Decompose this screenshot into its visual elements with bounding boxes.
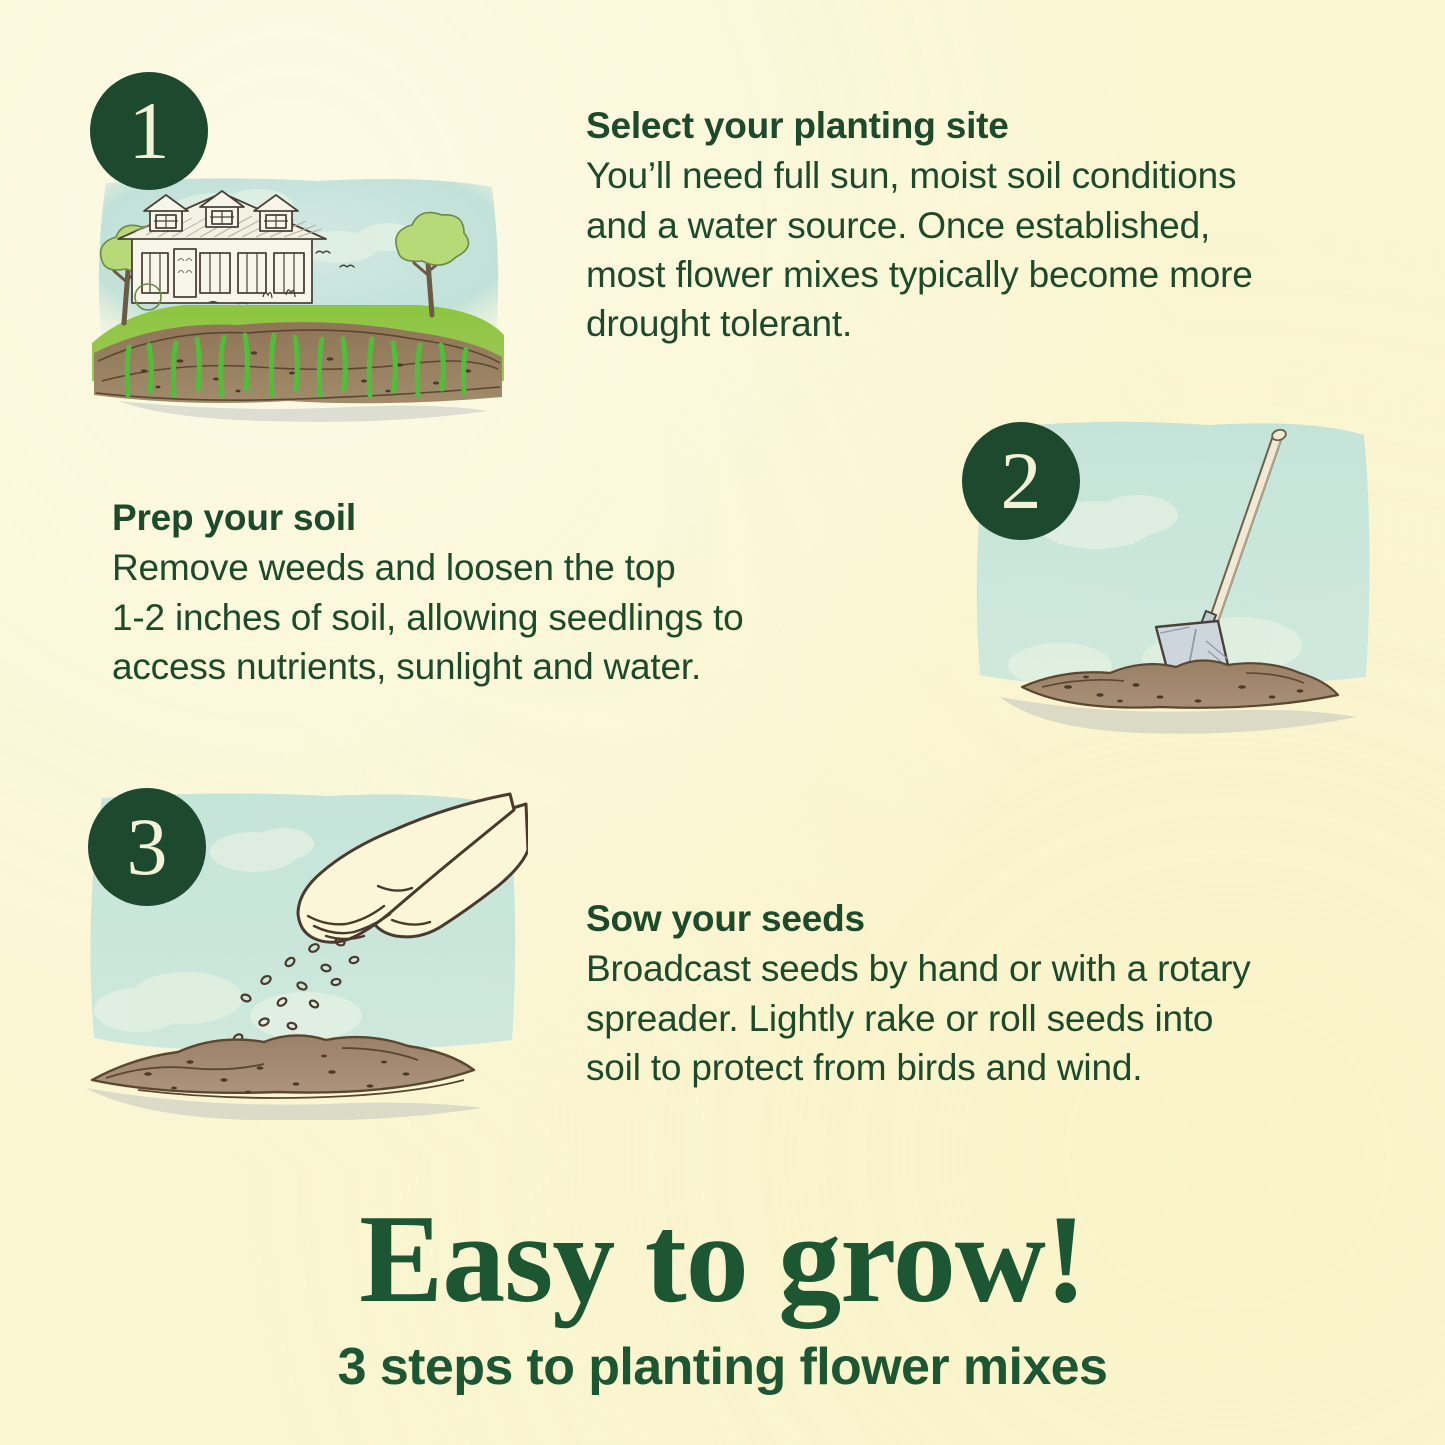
- step-text-3: Sow your seeds Broadcast seeds by hand o…: [586, 895, 1406, 1092]
- step-body-line: soil to protect from birds and wind.: [586, 1043, 1406, 1092]
- step-body-line: drought tolerant.: [586, 299, 1406, 348]
- footer: Easy to grow! 3 steps to planting flower…: [0, 1197, 1445, 1397]
- infographic-page: 1 2 3 Select your planting site You’ll n…: [0, 0, 1445, 1445]
- step-title-1: Select your planting site: [586, 102, 1406, 149]
- step-badge-1: 1: [90, 72, 208, 190]
- house-and-soil-illustration: [88, 175, 508, 440]
- step-body-line: access nutrients, sunlight and water.: [112, 642, 932, 691]
- step-body-2: Remove weeds and loosen the top 1-2 inch…: [112, 543, 932, 691]
- step-body-line: 1-2 inches of soil, allowing seedlings t…: [112, 593, 932, 642]
- step-body-line: Broadcast seeds by hand or with a rotary: [586, 944, 1406, 993]
- step-title-3: Sow your seeds: [586, 895, 1406, 942]
- step-badge-2: 2: [962, 422, 1080, 540]
- headline: Easy to grow!: [0, 1197, 1445, 1323]
- step-title-2: Prep your soil: [112, 494, 932, 541]
- step-text-2: Prep your soil Remove weeds and loosen t…: [112, 494, 932, 691]
- step-badge-3: 3: [88, 788, 206, 906]
- step-body-line: You’ll need full sun, moist soil conditi…: [586, 151, 1406, 200]
- step-body-line: Remove weeds and loosen the top: [112, 543, 932, 592]
- subheadline: 3 steps to planting flower mixes: [0, 1337, 1445, 1397]
- step-body-1: You’ll need full sun, moist soil conditi…: [586, 151, 1406, 348]
- step-body-3: Broadcast seeds by hand or with a rotary…: [586, 944, 1406, 1092]
- step-body-line: spreader. Lightly rake or roll seeds int…: [586, 994, 1406, 1043]
- step-text-1: Select your planting site You’ll need fu…: [586, 102, 1406, 348]
- step-body-line: and a water source. Once established,: [586, 201, 1406, 250]
- step-body-line: most flower mixes typically become more: [586, 250, 1406, 299]
